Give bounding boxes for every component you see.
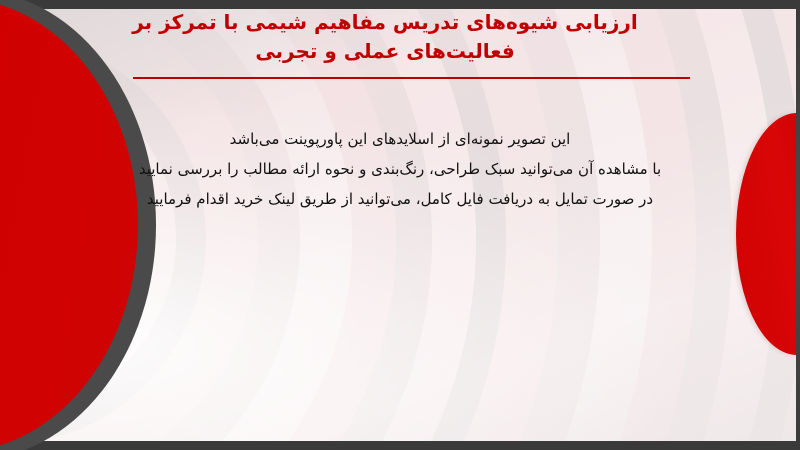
title-line-2: فعالیت‌های عملی و تجربی — [60, 37, 710, 66]
slide-title: ارزیابی شیوه‌های تدریس مفاهیم شیمی با تم… — [60, 8, 710, 66]
title-line-1: ارزیابی شیوه‌های تدریس مفاهیم شیمی با تم… — [60, 8, 710, 37]
slide-canvas: ارزیابی شیوه‌های تدریس مفاهیم شیمی با تم… — [0, 0, 800, 450]
slide-body-text: این تصویر نمونه‌ای از اسلایدهای این پاور… — [110, 124, 690, 214]
title-underline-rule — [133, 77, 690, 79]
body-line-2: با مشاهده آن می‌توانید سبک طراحی، رنگ‌بن… — [110, 154, 690, 184]
body-line-1: این تصویر نمونه‌ای از اسلایدهای این پاور… — [110, 124, 690, 154]
body-line-3: در صورت تمایل به دریافت فایل کامل، می‌تو… — [110, 184, 690, 214]
